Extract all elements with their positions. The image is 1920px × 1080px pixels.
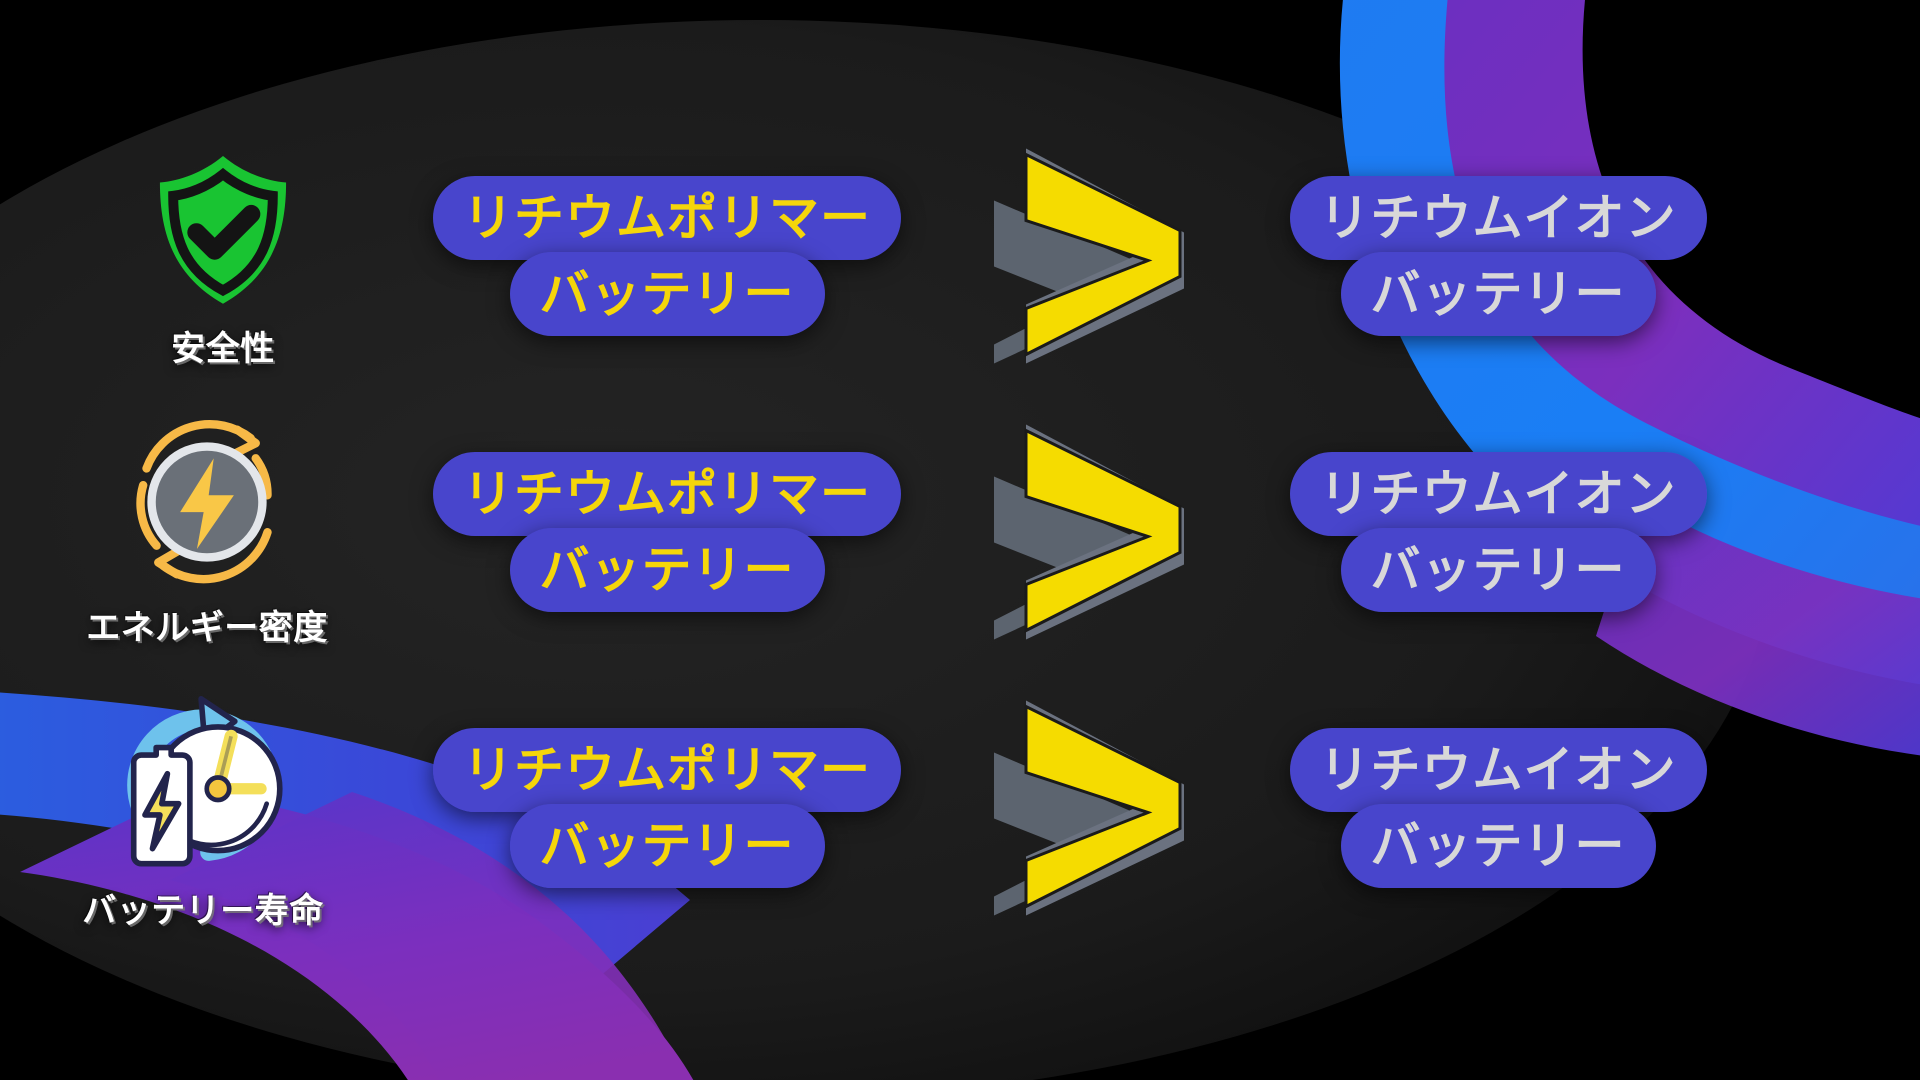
left-option-line1: リチウムポリマー bbox=[433, 452, 901, 536]
left-option-battery-life: リチウムポリマー バッテリー bbox=[352, 732, 982, 884]
infographic-canvas: 安全性 リチウムポリマー バッテリー リチウムイオン バッテリー bbox=[0, 0, 1920, 1080]
right-option-line1: リチウムイオン bbox=[1290, 452, 1707, 536]
left-option-line1: リチウムポリマー bbox=[433, 176, 901, 260]
left-option-line1: リチウムポリマー bbox=[433, 728, 901, 812]
greater-than-chevron-battery-life bbox=[984, 701, 1204, 916]
right-option-line2: バッテリー bbox=[1341, 252, 1656, 336]
left-option-line2: バッテリー bbox=[510, 252, 825, 336]
criterion-label-battery-life: バッテリー寿命 bbox=[82, 883, 324, 932]
comparison-rows: 安全性 リチウムポリマー バッテリー リチウムイオン バッテリー bbox=[0, 0, 1920, 1080]
left-option-line2: バッテリー bbox=[510, 804, 825, 888]
comparison-row-safety: 安全性 リチウムポリマー バッテリー リチウムイオン バッテリー bbox=[0, 118, 1920, 394]
criterion-energy-density: エネルギー密度 bbox=[62, 394, 352, 670]
right-option-battery-life: リチウムイオン バッテリー bbox=[1248, 732, 1748, 884]
greater-than-chevron-energy-density bbox=[984, 425, 1204, 640]
criterion-label-safety: 安全性 bbox=[171, 321, 275, 370]
comparison-row-battery-life: バッテリー寿命 リチウムポリマー バッテリー リチウムイオン バッテリー bbox=[0, 670, 1920, 946]
shield-check-icon bbox=[137, 143, 309, 315]
right-option-energy-density: リチウムイオン バッテリー bbox=[1248, 456, 1748, 608]
criterion-battery-life: バッテリー寿命 bbox=[58, 670, 348, 946]
clock-battery-icon bbox=[98, 685, 308, 885]
right-option-line2: バッテリー bbox=[1341, 804, 1656, 888]
energy-bolt-cycle-icon bbox=[121, 416, 293, 588]
criterion-safety: 安全性 bbox=[78, 118, 368, 394]
left-option-safety: リチウムポリマー バッテリー bbox=[352, 180, 982, 332]
comparison-row-energy-density: エネルギー密度 リチウムポリマー バッテリー リチウムイオン バッテリー bbox=[0, 394, 1920, 670]
criterion-label-energy-density: エネルギー密度 bbox=[86, 600, 328, 649]
left-option-energy-density: リチウムポリマー バッテリー bbox=[352, 456, 982, 608]
right-option-safety: リチウムイオン バッテリー bbox=[1248, 180, 1748, 332]
right-option-line1: リチウムイオン bbox=[1290, 176, 1707, 260]
right-option-line2: バッテリー bbox=[1341, 528, 1656, 612]
left-option-line2: バッテリー bbox=[510, 528, 825, 612]
greater-than-chevron-safety bbox=[984, 149, 1204, 364]
right-option-line1: リチウムイオン bbox=[1290, 728, 1707, 812]
